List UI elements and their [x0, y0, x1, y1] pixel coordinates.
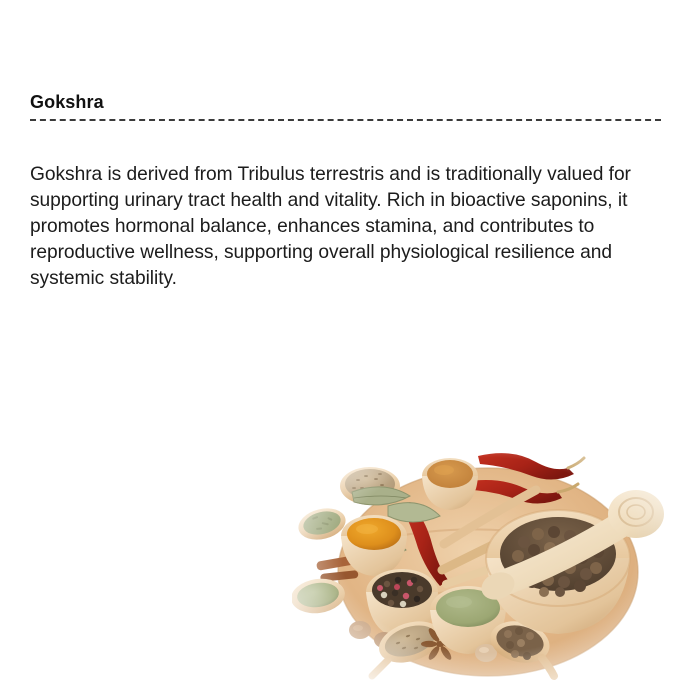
description-paragraph: Gokshra is derived from Tribulus terrest… — [30, 162, 678, 292]
spices-illustration — [292, 424, 684, 686]
spices-assortment-photo — [292, 424, 684, 686]
dashed-divider — [30, 119, 661, 121]
page-title: Gokshra — [30, 91, 104, 113]
page-canvas: Gokshra Gokshra is derived from Tribulus… — [0, 0, 700, 700]
